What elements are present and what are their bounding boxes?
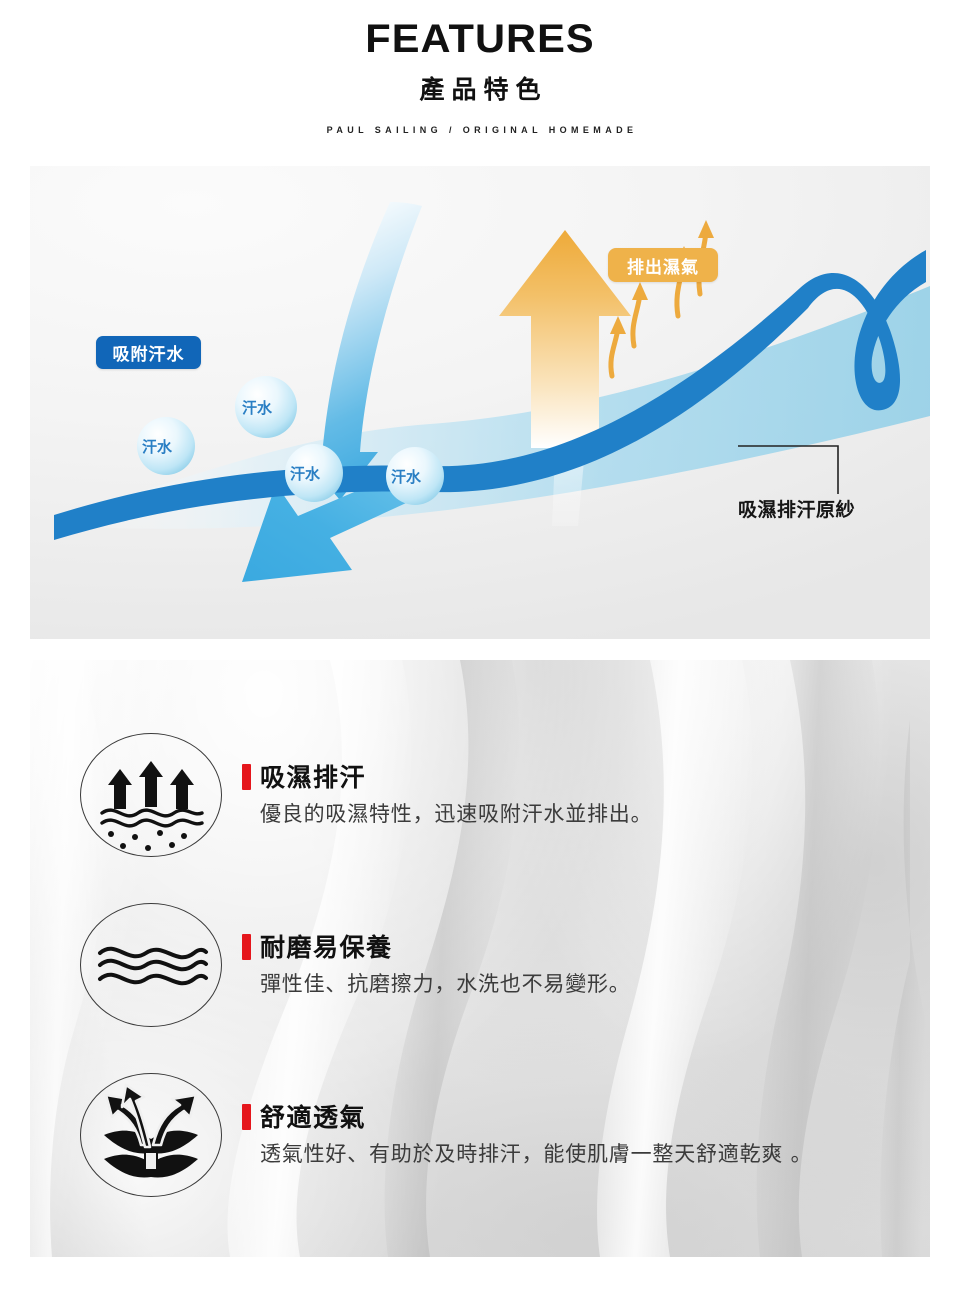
feature-description: 優良的吸濕特性，迅速吸附汗水並排出。 (260, 801, 652, 827)
feature-item-3: 舒適透氣 透氣性好、有助於及時排汗，能使肌膚一整天舒適乾爽 。 (30, 1073, 930, 1197)
moisture-wicking-icon (80, 733, 222, 857)
feature-item-1: 吸濕排汗 優良的吸濕特性，迅速吸附汗水並排出。 (30, 733, 930, 857)
badge-release-moisture: 排出濕氣 (608, 248, 718, 282)
feature-title: 吸濕排汗 (260, 765, 366, 790)
accent-bar (242, 934, 251, 960)
feature-head-3: 舒適透氣 (242, 1104, 812, 1130)
badge-absorb-sweat: 吸附汗水 (96, 336, 201, 369)
moisture-flow-illustration (30, 166, 930, 639)
page-subtitle: PAUL SAILING / ORIGINAL HOMEMADE (0, 125, 960, 136)
page-title-chinese: 產品特色 (0, 70, 960, 106)
features-panel: 吸濕排汗 優良的吸濕特性，迅速吸附汗水並排出。 耐磨易保養 彈性佳、抗磨擦力，水… (30, 660, 930, 1257)
moisture-diagram-panel: 吸附汗水 排出濕氣 吸濕排汗原紗 汗水 汗水 汗水 汗水 (30, 166, 930, 639)
feature-head-2: 耐磨易保養 (242, 934, 631, 960)
feature-text-2: 耐磨易保養 彈性佳、抗磨擦力，水洗也不易變形。 (242, 932, 631, 997)
page-header: FEATURES 產品特色 PAUL SAILING / ORIGINAL HO… (0, 0, 960, 135)
yarn-label: 吸濕排汗原紗 (738, 495, 855, 522)
feature-head-1: 吸濕排汗 (242, 764, 652, 790)
feature-text-1: 吸濕排汗 優良的吸濕特性，迅速吸附汗水並排出。 (242, 762, 652, 827)
feature-description: 彈性佳、抗磨擦力，水洗也不易變形。 (260, 971, 631, 997)
feature-description: 透氣性好、有助於及時排汗，能使肌膚一整天舒適乾爽 。 (260, 1141, 812, 1167)
breathable-icon (80, 1073, 222, 1197)
feature-title: 舒適透氣 (260, 1105, 366, 1130)
feature-item-2: 耐磨易保養 彈性佳、抗磨擦力，水洗也不易變形。 (30, 903, 930, 1027)
abrasion-resistant-icon (80, 903, 222, 1027)
accent-bar (242, 764, 251, 790)
feature-title: 耐磨易保養 (260, 935, 393, 960)
accent-bar (242, 1104, 251, 1130)
page-title-english: FEATURES (0, 18, 960, 61)
feature-text-3: 舒適透氣 透氣性好、有助於及時排汗，能使肌膚一整天舒適乾爽 。 (242, 1102, 812, 1167)
